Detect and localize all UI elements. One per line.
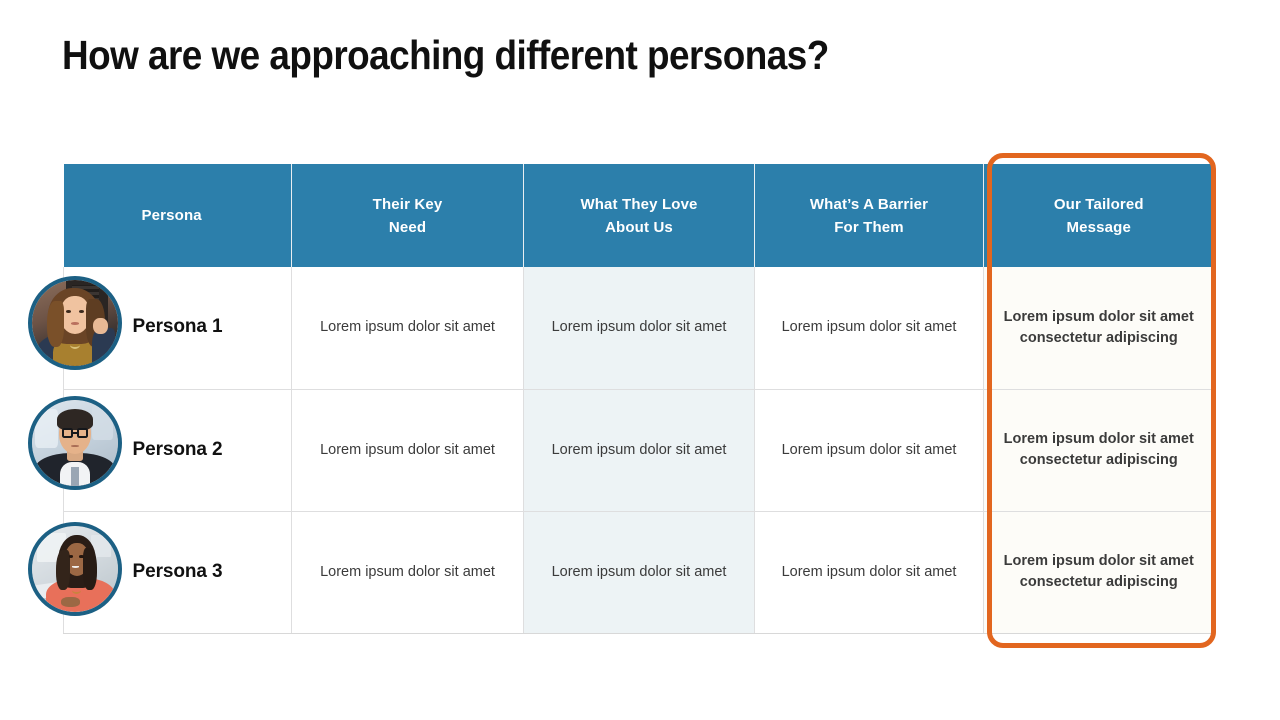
table-row: Persona 1 Lorem ipsum dolor sit amet Lor… [64,267,1214,389]
table-row: Persona 3 Lorem ipsum dolor sit amet Lor… [64,511,1214,633]
cell-key-need: Lorem ipsum dolor sit amet [292,511,524,633]
cell-love-about-us: Lorem ipsum dolor sit amet [524,389,755,511]
avatar-photo-persona-1 [32,280,118,366]
cell-love-about-us: Lorem ipsum dolor sit amet [524,511,755,633]
persona-label: Persona 3 [133,561,223,582]
column-header-barrier: What’s A Barrier For Them [755,164,984,267]
avatar [28,522,122,616]
cell-barrier: Lorem ipsum dolor sit amet [755,389,984,511]
column-header-barrier-line2: For Them [834,219,904,236]
column-header-tailored-message-line2: Message [1067,219,1131,236]
cell-barrier: Lorem ipsum dolor sit amet [755,511,984,633]
column-header-barrier-line1: What’s A Barrier [810,196,928,213]
persona-label: Persona 2 [133,439,223,460]
column-header-tailored-message: Our Tailored Message [984,164,1214,267]
avatar-photo-persona-2 [32,400,118,486]
column-header-love-about-us-line1: What They Love [580,196,697,213]
cell-love-about-us: Lorem ipsum dolor sit amet [524,267,755,389]
slide-canvas: How are we approaching different persona… [0,0,1280,720]
column-header-love-about-us: What They Love About Us [524,164,755,267]
table-row: Persona 2 Lorem ipsum dolor sit amet Lor… [64,389,1214,511]
avatar-photo-persona-3 [32,526,118,612]
persona-label: Persona 1 [133,316,223,337]
cell-tailored-message: Lorem ipsum dolor sit amet consectetur a… [984,267,1214,389]
cell-key-need: Lorem ipsum dolor sit amet [292,389,524,511]
column-header-persona: Persona [64,164,292,267]
cell-barrier: Lorem ipsum dolor sit amet [755,267,984,389]
cell-tailored-message: Lorem ipsum dolor sit amet consectetur a… [984,389,1214,511]
column-header-key-need-line2: Need [389,219,426,236]
column-header-key-need: Their Key Need [292,164,524,267]
column-header-key-need-line1: Their Key [373,196,443,213]
column-header-tailored-message-line1: Our Tailored [1054,196,1144,213]
column-header-love-about-us-line2: About Us [605,219,673,236]
table-header-row: Persona Their Key Need What They Love Ab… [64,164,1214,267]
avatar [28,276,122,370]
column-header-persona-line1: Persona [142,207,202,224]
persona-comparison-table: Persona Their Key Need What They Love Ab… [63,164,1214,634]
cell-tailored-message: Lorem ipsum dolor sit amet consectetur a… [984,511,1214,633]
page-title: How are we approaching different persona… [62,29,1052,81]
avatar [28,396,122,490]
cell-key-need: Lorem ipsum dolor sit amet [292,267,524,389]
